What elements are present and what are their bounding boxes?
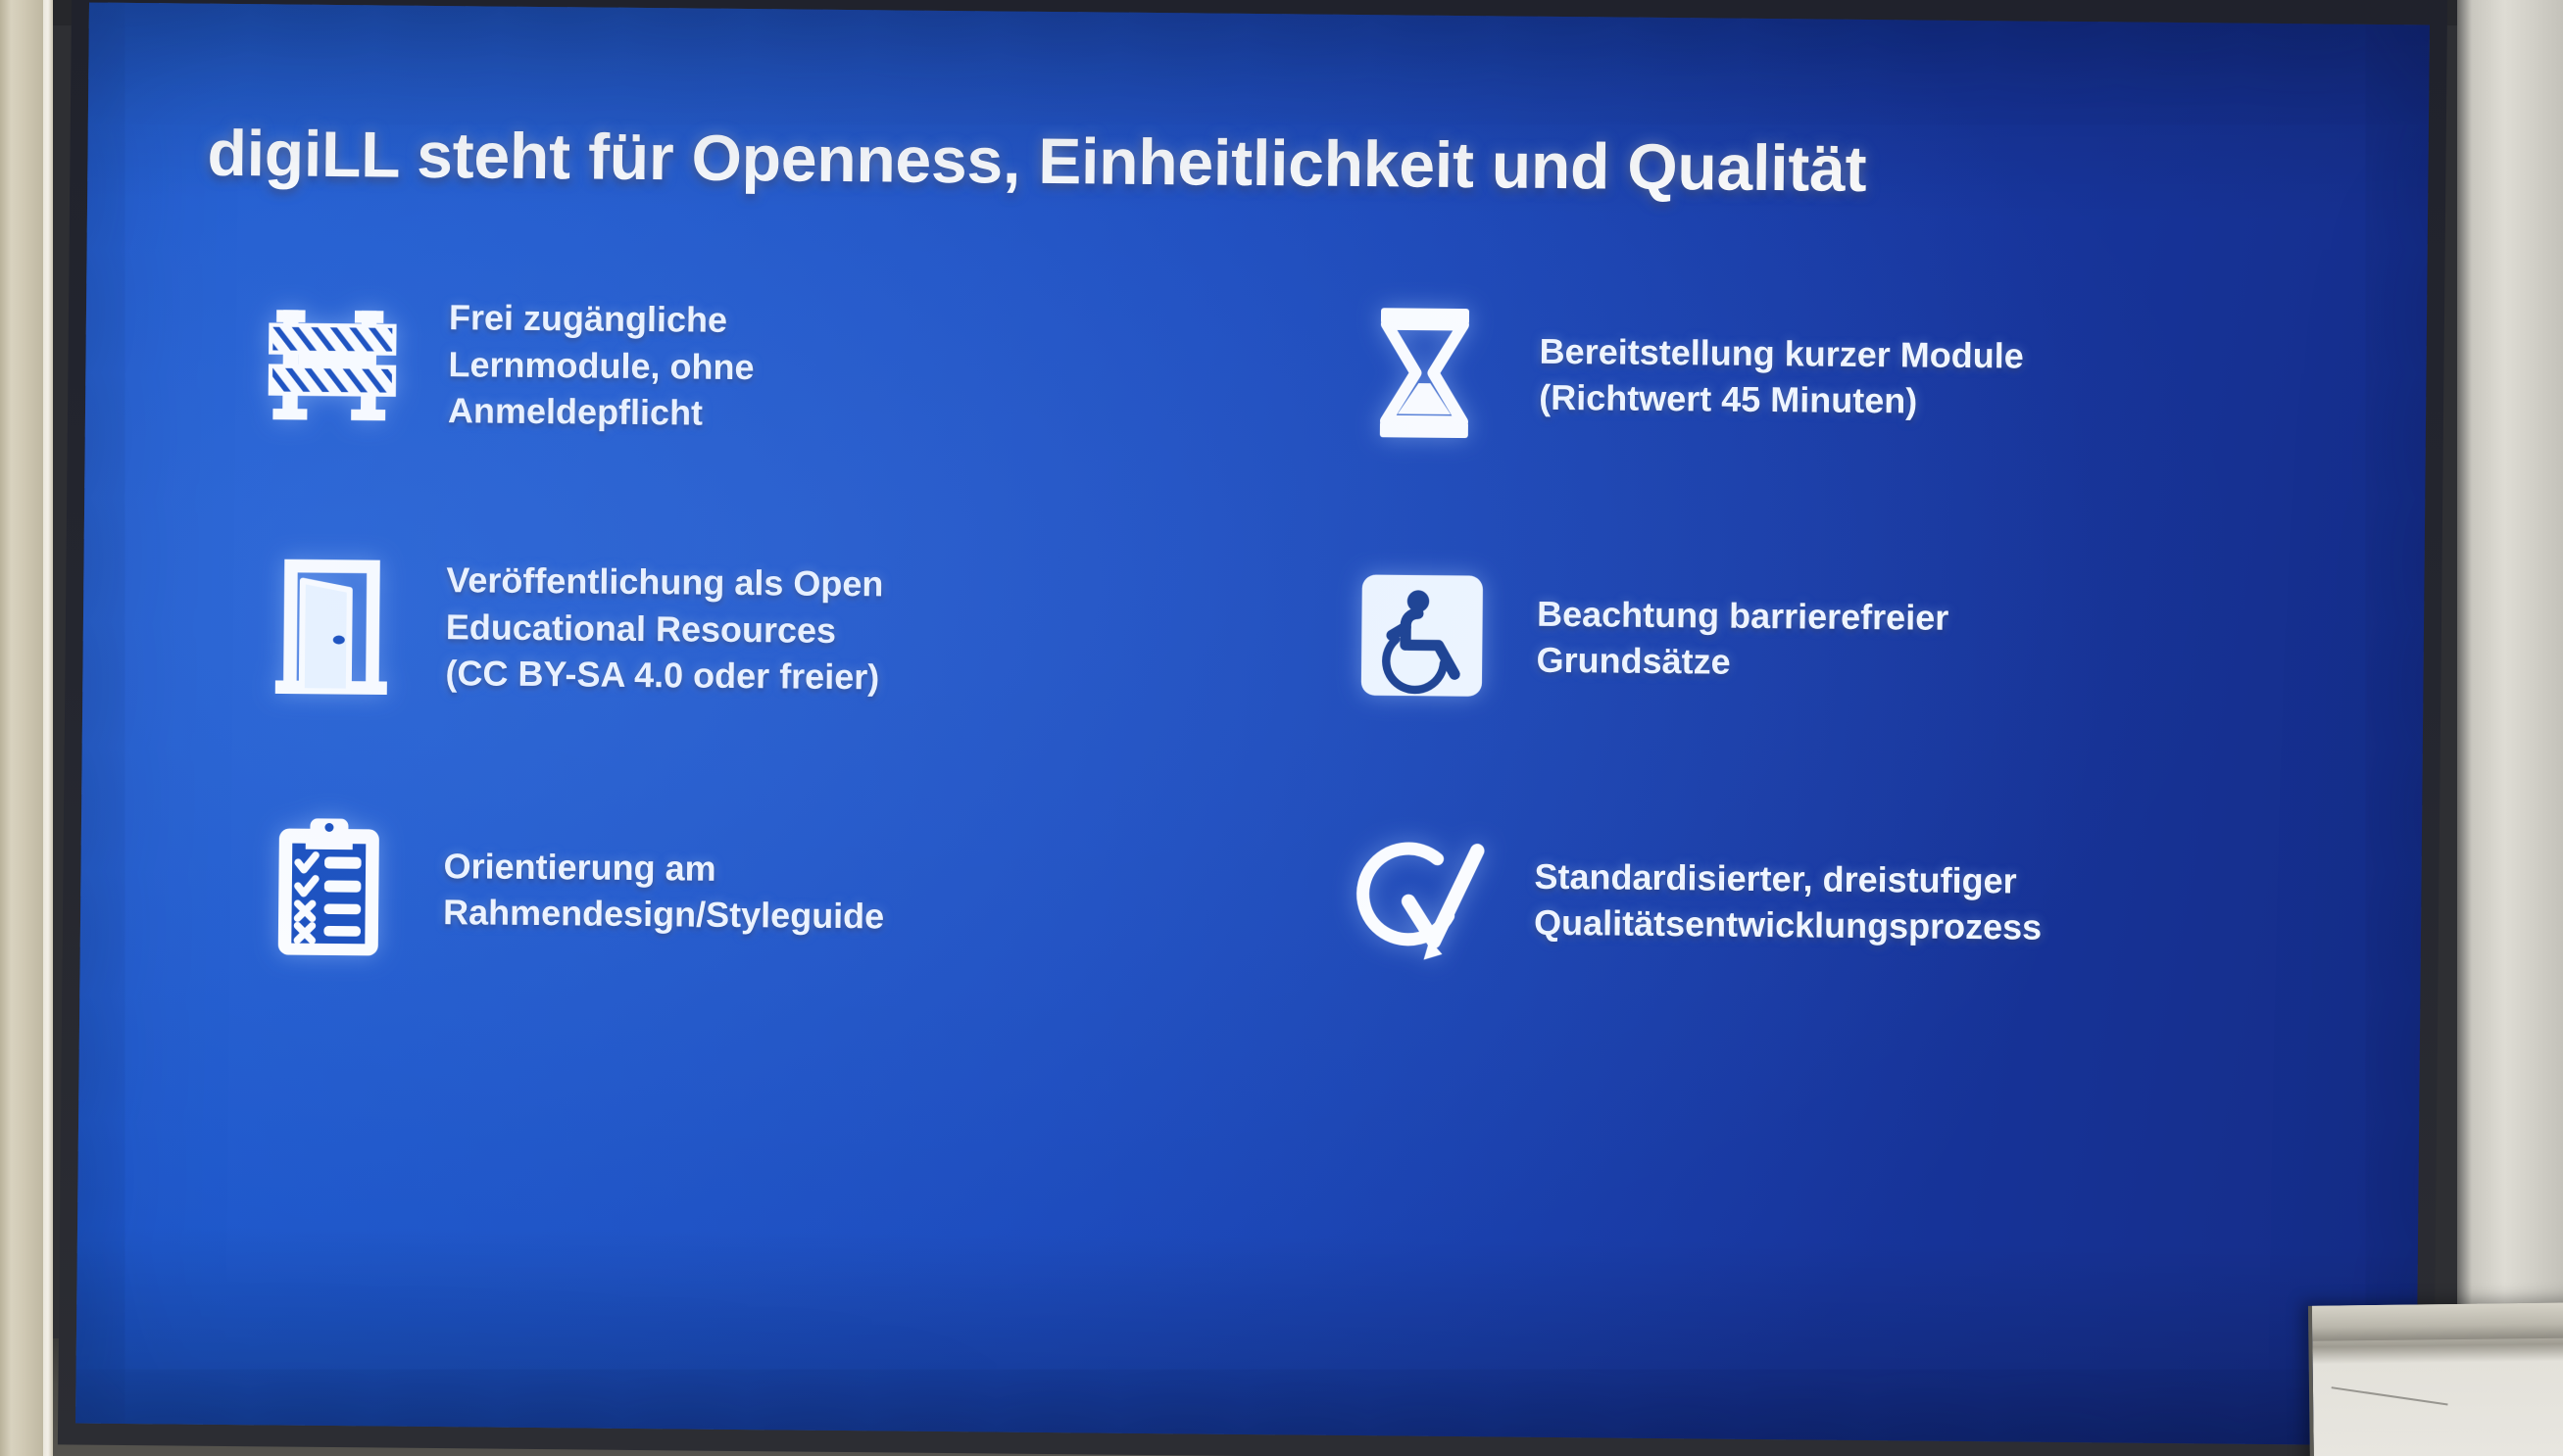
feature-grid: Frei zugängliche Lernmodule, ohne Anmeld… (199, 230, 2281, 1038)
feature-item: Frei zugängliche Lernmodule, ohne Anmeld… (259, 231, 1219, 503)
feature-item: Veröffentlichung als Open Educational Re… (257, 494, 1217, 765)
flipchart-corner (2308, 1302, 2563, 1456)
flipchart-rail (2312, 1302, 2563, 1341)
flipchart-crease (2332, 1386, 2448, 1405)
feature-item: Standardisierter, dreistufiger Qualitäts… (1306, 766, 2266, 1038)
clipboard-checklist-icon (255, 814, 403, 962)
barrier-icon (260, 289, 408, 437)
wheelchair-accessibility-icon (1348, 561, 1496, 709)
wall-left (0, 0, 45, 1456)
feature-label: Frei zugängliche Lernmodule, ohne Anmeld… (448, 294, 755, 437)
hourglass-icon (1351, 299, 1499, 447)
presentation-slide: digiLL steht für Openness, Einheitlichke… (75, 3, 2430, 1446)
feature-item: Orientierung am Rahmendesign/Styleguide (254, 756, 1214, 1028)
feature-label: Beachtung barrierefreier Grundsätze (1536, 591, 1948, 688)
wall-left-seam (43, 0, 53, 1456)
photo-scene: digiLL steht für Openness, Einheitlichke… (0, 0, 2563, 1456)
feature-item: Beachtung barrierefreier Grundsätze (1308, 504, 2269, 775)
feature-label: Orientierung am Rahmendesign/Styleguide (443, 843, 885, 940)
feature-label: Standardisierter, dreistufiger Qualitäts… (1534, 853, 2043, 951)
feature-label: Bereitstellung kurzer Module (Richtwert … (1539, 328, 2024, 426)
feature-label: Veröffentlichung als Open Educational Re… (445, 557, 883, 701)
page-title: digiLL steht für Openness, Einheitlichke… (207, 120, 2282, 208)
wall-right (2457, 0, 2563, 1456)
cycle-checkmark-icon (1346, 824, 1494, 972)
feature-item: Bereitstellung kurzer Module (Richtwert … (1310, 241, 2271, 512)
open-door-icon (257, 552, 405, 700)
